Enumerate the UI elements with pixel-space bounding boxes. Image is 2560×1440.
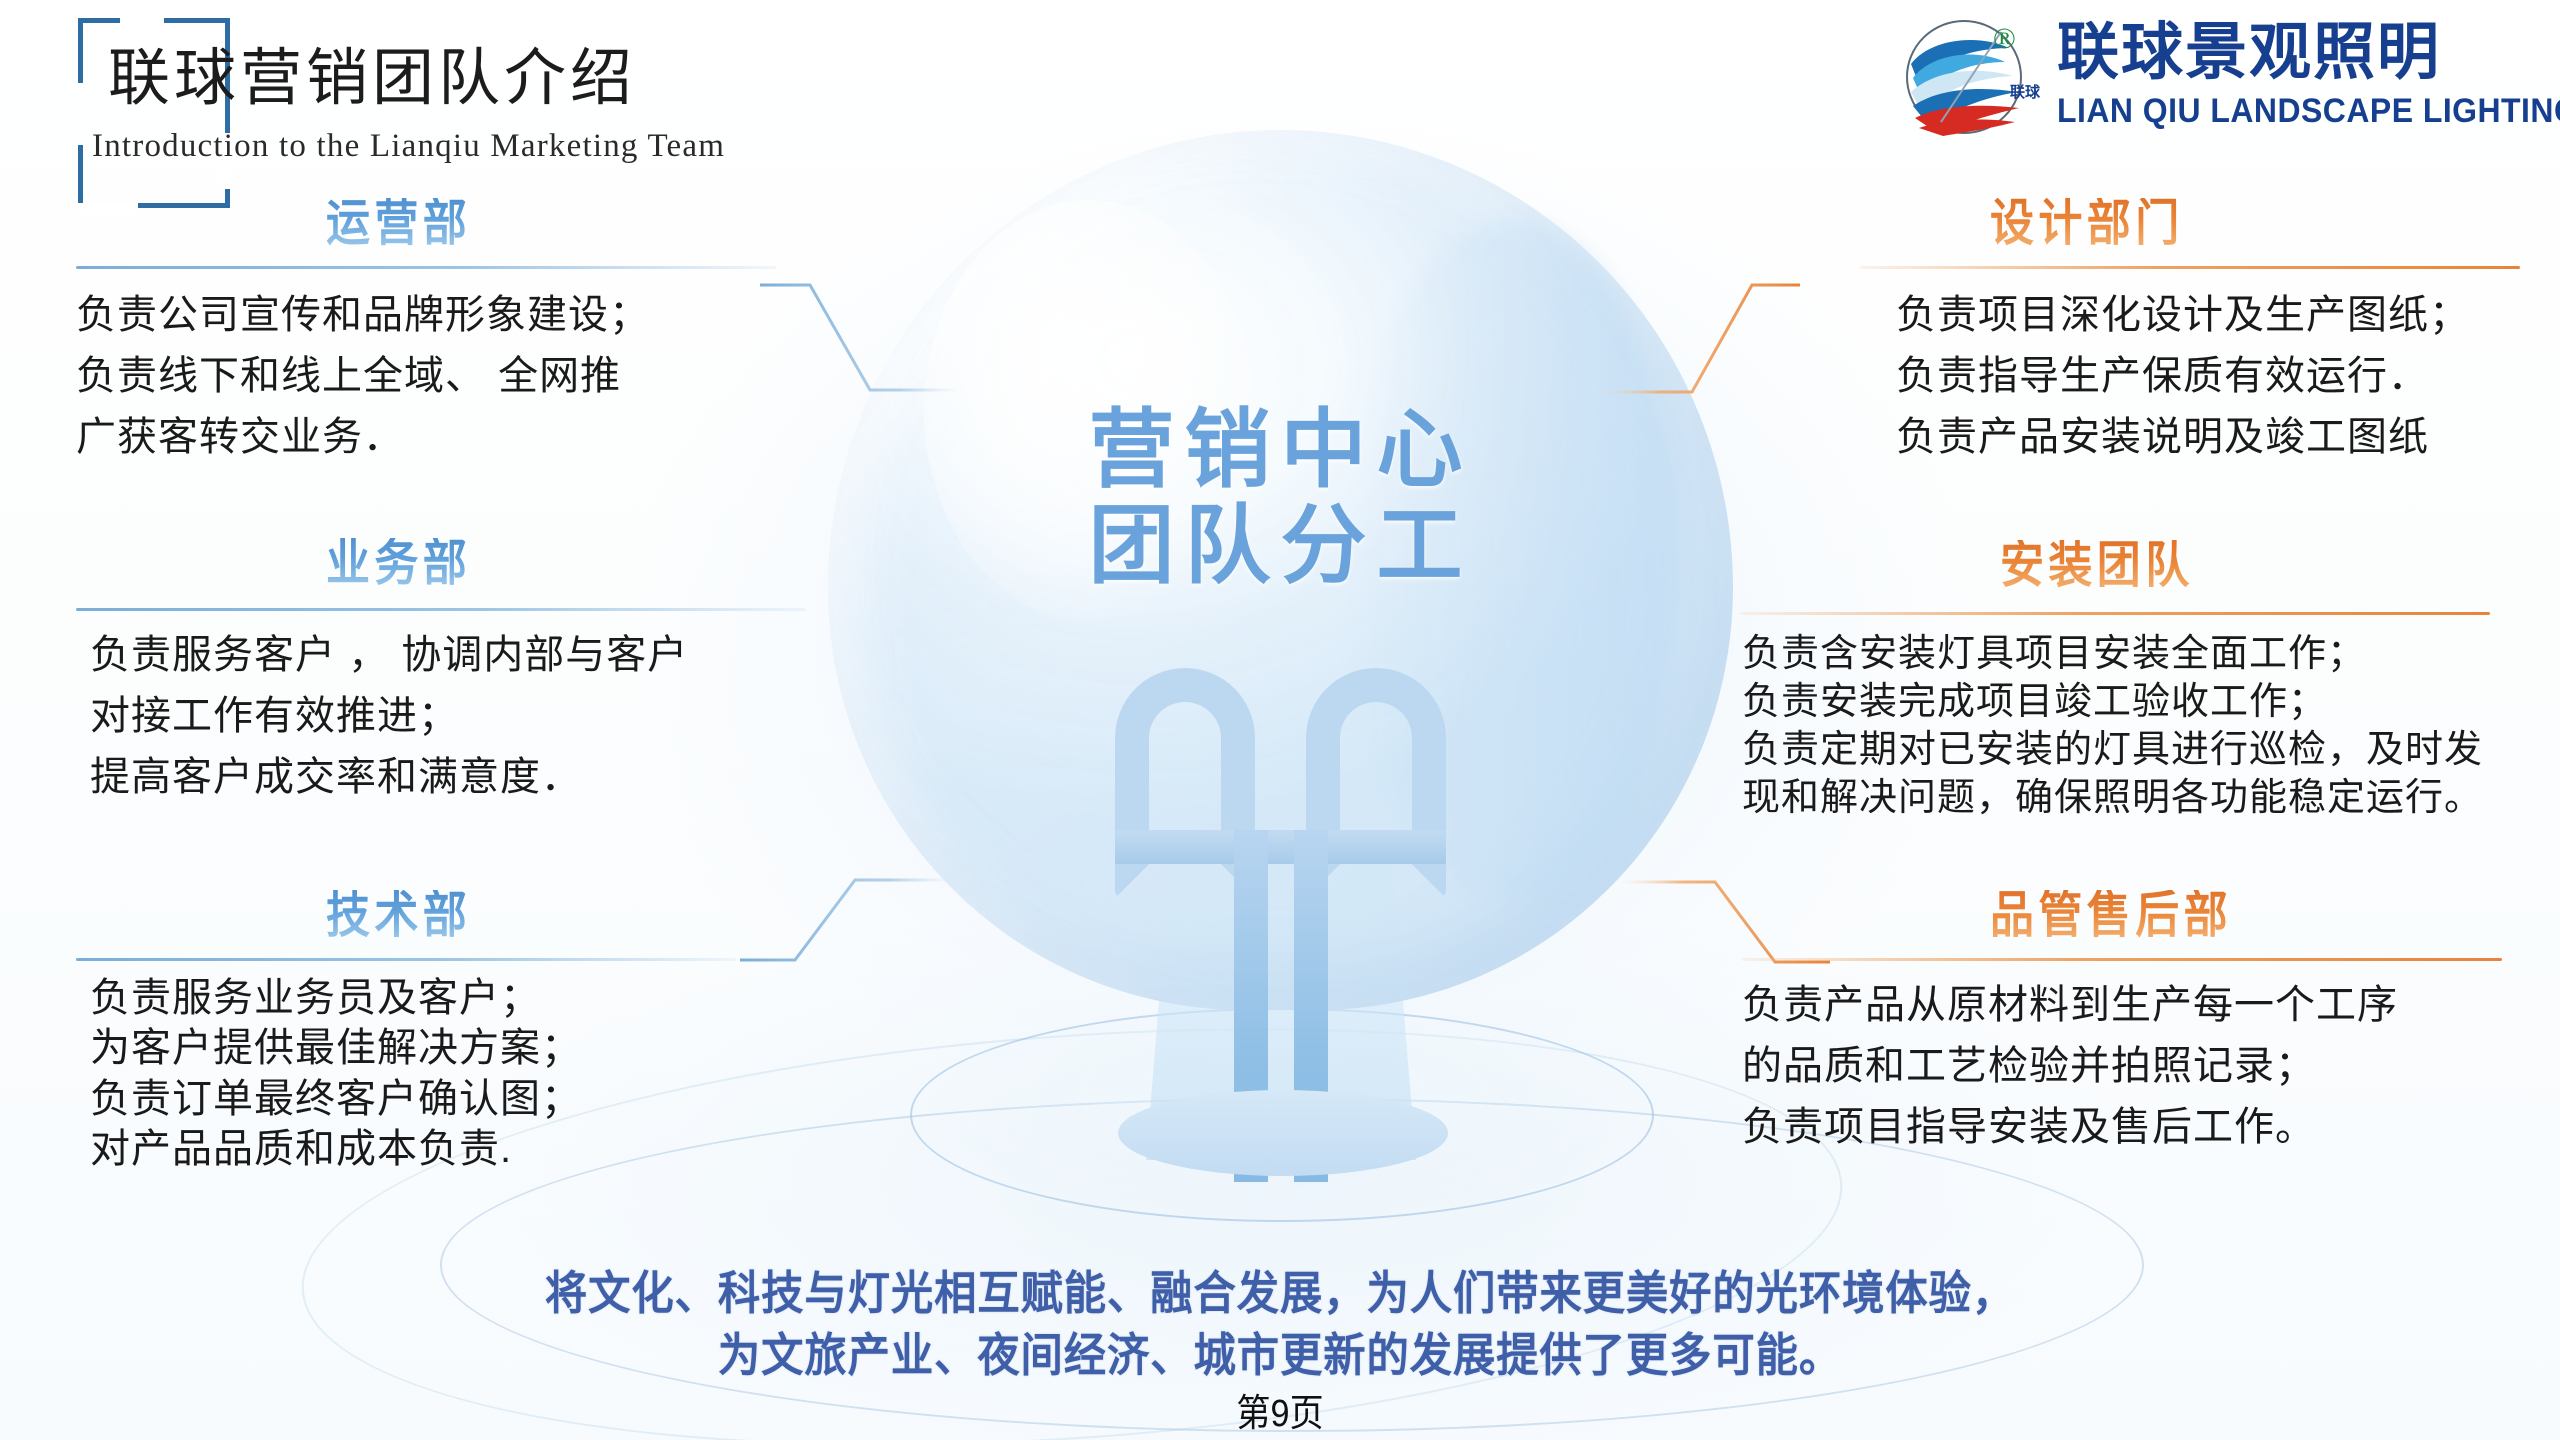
body-line: 对产品品质和成本负责. <box>90 1124 866 1174</box>
section-quality-aftersales: 品管售后部 负责产品从原材料到生产每一个工序 的品质和工艺检验并拍照记录； 负责… <box>1800 890 2560 1157</box>
body-line: 提高客户成交率和满意度． <box>90 747 866 808</box>
title-frame-gap-top <box>120 13 164 23</box>
body-line: 负责订单最终客户确认图； <box>90 1074 866 1124</box>
center-title-line1: 营销中心 <box>828 402 1733 498</box>
body-line: 负责产品安装说明及竣工图纸 <box>1896 407 2560 468</box>
section-installation: 安装团队 负责含安装灯具项目安装全面工作； 负责安装完成项目竣工验收工作； 负责… <box>1800 540 2560 823</box>
section-body-installation: 负责含安装灯具项目安装全面工作； 负责安装完成项目竣工验收工作； 负责定期对已安… <box>1742 631 2560 823</box>
body-line: 广获客转交业务． <box>76 407 866 468</box>
bulb-highlight <box>924 200 1254 620</box>
section-rule-technical <box>76 958 736 961</box>
section-body-quality-aftersales: 负责产品从原材料到生产每一个工序 的品质和工艺检验并拍照记录； 负责项目指导安装… <box>1742 975 2560 1157</box>
body-line: 负责指导生产保质有效运行． <box>1896 346 2560 407</box>
filament-loop-left <box>1115 668 1255 898</box>
section-heading-design: 设计部门 <box>1990 198 2560 248</box>
filament-loop-right <box>1306 668 1446 898</box>
body-line: 负责项目指导安装及售后工作。 <box>1742 1097 2560 1158</box>
tagline-line1: 将文化、科技与灯光相互赋能、融合发展，为人们带来更美好的光环境体验， <box>102 1262 2457 1324</box>
section-body-technical: 负责服务业务员及客户； 为客户提供最佳解决方案； 负责订单最终客户确认图； 对产… <box>90 973 866 1175</box>
bulb-neck <box>1146 830 1416 1160</box>
section-design: 设计部门 负责项目深化设计及生产图纸； 负责指导生产保质有效运行． 负责产品安装… <box>1880 198 2560 467</box>
body-line: 负责定期对已安装的灯具进行巡检，及时发 <box>1742 727 2560 775</box>
body-line: 负责服务业务员及客户； <box>90 973 866 1023</box>
body-line: 负责含安装灯具项目安装全面工作； <box>1742 631 2560 679</box>
section-body-operations: 负责公司宣传和品牌形象建设； 负责线下和线上全域、 全网推 广获客转交业务． <box>76 285 866 467</box>
section-heading-installation: 安装团队 <box>2000 540 2519 590</box>
body-line: 负责项目深化设计及生产图纸； <box>1896 285 2560 346</box>
registered-mark: ® <box>1993 22 2016 56</box>
body-line: 对接工作有效推进； <box>90 686 866 747</box>
bulb-rim-shading <box>1348 220 1678 900</box>
filament-crossbar <box>1115 830 1446 864</box>
body-line: 负责服务客户 ， 协调内部与客户 <box>90 625 866 686</box>
body-line: 现和解决问题，确保照明各功能稳定运行。 <box>1742 775 2560 823</box>
bulb-base-disc <box>1118 1090 1448 1176</box>
slide-canvas: 联球营销团队介绍 Introduction to the Lianqiu Mar… <box>0 0 2560 1440</box>
body-line: 负责线下和线上全域、 全网推 <box>76 346 866 407</box>
body-line: 负责产品从原材料到生产每一个工序 <box>1742 975 2560 1036</box>
company-logo: ® 联球 联球景观照明 LIAN QIU LANDSCAPE LIGHTING <box>1905 8 2535 138</box>
section-rule-installation <box>1740 612 2490 615</box>
page-title: 联球营销团队介绍 <box>108 48 636 110</box>
page-subtitle: Introduction to the Lianqiu Marketing Te… <box>92 130 725 163</box>
section-rule-operations <box>76 266 776 269</box>
section-heading-business: 业务部 <box>326 538 801 588</box>
lightbulb-illustration: 营销中心 团队分工 <box>828 130 1733 1140</box>
section-heading-quality-aftersales: 品管售后部 <box>1990 890 2518 940</box>
section-technical: 技术部 负责服务业务员及客户； 为客户提供最佳解决方案； 负责订单最终客户确认图… <box>76 890 866 1175</box>
logo-english-name: LIAN QIU LANDSCAPE LIGHTING <box>2057 94 2560 128</box>
body-line: 负责安装完成项目竣工验收工作； <box>1742 679 2560 727</box>
logo-chinese-name: 联球景观照明 <box>2057 22 2441 84</box>
section-heading-operations: 运营部 <box>326 198 801 248</box>
logo-sub-characters: 联球 <box>2005 86 2045 100</box>
center-title: 营销中心 团队分工 <box>828 402 1733 595</box>
section-body-design: 负责项目深化设计及生产图纸； 负责指导生产保质有效运行． 负责产品安装说明及竣工… <box>1896 285 2560 467</box>
bottom-tagline: 将文化、科技与灯光相互赋能、融合发展，为人们带来更美好的光环境体验， 为文旅产业… <box>102 1262 2457 1386</box>
section-rule-quality-aftersales <box>1742 958 2502 961</box>
tagline-line2: 为文旅产业、夜间经济、城市更新的发展提供了更多可能。 <box>102 1324 2457 1386</box>
body-line: 的品质和工艺检验并拍照记录； <box>1742 1036 2560 1097</box>
bulb-base-outer-ring <box>910 1008 1654 1222</box>
filament-stem-right <box>1294 830 1328 1182</box>
filament-stem-left <box>1234 830 1268 1182</box>
section-body-business: 负责服务客户 ， 协调内部与客户 对接工作有效推进； 提高客户成交率和满意度． <box>90 625 866 807</box>
body-line: 负责公司宣传和品牌形象建设； <box>76 285 866 346</box>
page-number: 第9页 <box>128 1382 2432 1437</box>
section-heading-technical: 技术部 <box>326 890 801 940</box>
body-line: 为客户提供最佳解决方案； <box>90 1023 866 1073</box>
section-rule-design <box>1860 266 2520 269</box>
section-rule-business <box>76 608 806 611</box>
section-business: 业务部 负责服务客户 ， 协调内部与客户 对接工作有效推进； 提高客户成交率和满… <box>76 538 866 807</box>
center-title-line2: 团队分工 <box>828 498 1733 594</box>
section-operations: 运营部 负责公司宣传和品牌形象建设； 负责线下和线上全域、 全网推 广获客转交业… <box>76 198 866 467</box>
bulb-glass <box>828 130 1733 1010</box>
